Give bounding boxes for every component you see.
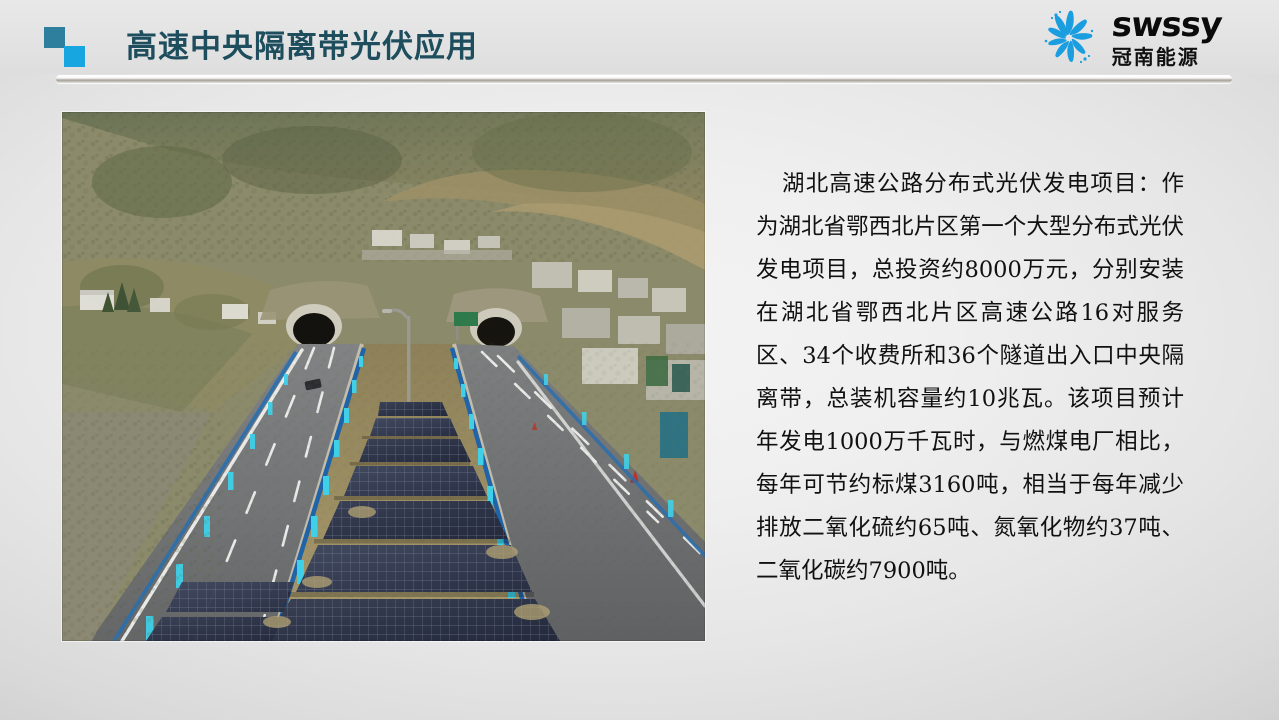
solar-array-row [146, 617, 282, 641]
project-description: 湖北高速公路分布式光伏发电项目：作为湖北省鄂西北片区第一个大型分布式光伏发电项目… [756, 163, 1184, 593]
project-photo [62, 112, 705, 641]
solar-array-row [370, 418, 458, 436]
page-title: 高速中央隔离带光伏应用 [126, 21, 478, 66]
slide-canvas: 高速中央隔离带光伏应用 [0, 0, 1279, 720]
slide-header: 高速中央隔离带光伏应用 [0, 0, 1279, 74]
solar-array-row [344, 466, 487, 496]
header-divider [56, 75, 1232, 83]
photo-aerial-highway-solar [62, 112, 705, 641]
petal-flower-icon [1036, 7, 1102, 69]
brand-text-block: swssy 冠南能源 [1112, 9, 1221, 66]
brand-wordmark: swssy [1110, 9, 1223, 41]
brand-subtitle: 冠南能源 [1112, 47, 1221, 67]
solar-array-row [359, 439, 471, 462]
solar-array-row [378, 402, 448, 416]
header-square-decoration [44, 27, 90, 69]
solar-array-row [323, 501, 508, 539]
square-bright-icon [64, 46, 85, 67]
solar-array-row [166, 582, 294, 612]
brand-logo: swssy 冠南能源 [1036, 5, 1221, 71]
square-dark-icon [44, 27, 65, 48]
solar-array-row [264, 599, 560, 641]
